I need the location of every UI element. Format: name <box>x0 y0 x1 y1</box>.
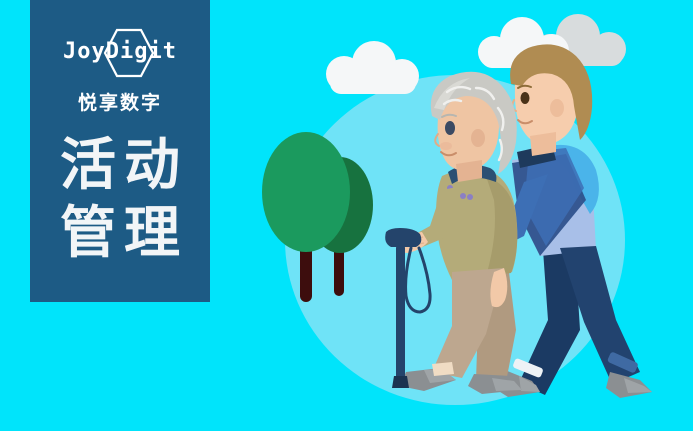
young-man-eye <box>521 92 530 104</box>
title-panel: JoyDigit 悦享数字 活动 管理 <box>30 0 210 302</box>
page-title-line-2: 管理 <box>30 200 210 268</box>
poster-canvas: JoyDigit 悦享数字 活动 管理 <box>0 0 693 431</box>
brand-logo-text: JoyDigit <box>30 40 210 64</box>
brand-block: JoyDigit 悦享数字 <box>30 28 210 115</box>
page-title: 活动 管理 <box>30 132 210 268</box>
elderly-woman-eye <box>445 121 455 135</box>
page-title-line-1: 活动 <box>30 132 210 200</box>
cloud-left <box>326 41 419 94</box>
brand-logo: JoyDigit <box>30 28 210 78</box>
brand-name-cn: 悦享数字 <box>30 88 210 115</box>
